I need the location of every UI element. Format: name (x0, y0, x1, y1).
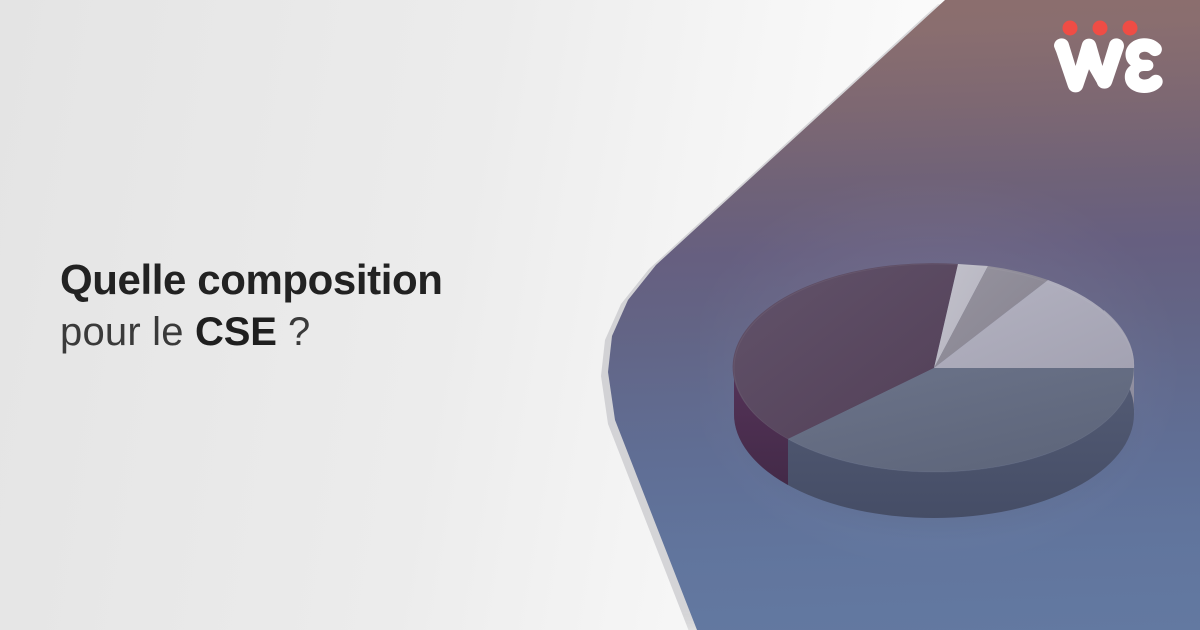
pie-chart (726, 218, 1146, 518)
social-card: Quelle composition pour le CSE ? (0, 0, 1200, 630)
headline-line-1: Quelle composition (60, 258, 580, 302)
logo-dot-2 (1093, 21, 1108, 36)
logo-wordmark (1054, 38, 1163, 93)
headline-line-2-suffix: ? (277, 310, 311, 354)
logo-dot-1 (1063, 21, 1078, 36)
headline-line-2-prefix: pour le (60, 310, 195, 354)
we-logo[interactable] (1048, 16, 1166, 94)
headline-line-2-strong: CSE (195, 310, 277, 354)
headline-line-2: pour le CSE ? (60, 312, 580, 354)
logo-dot-3 (1123, 21, 1138, 36)
logo-dots (1063, 21, 1138, 36)
page-title: Quelle composition pour le CSE ? (60, 258, 580, 353)
